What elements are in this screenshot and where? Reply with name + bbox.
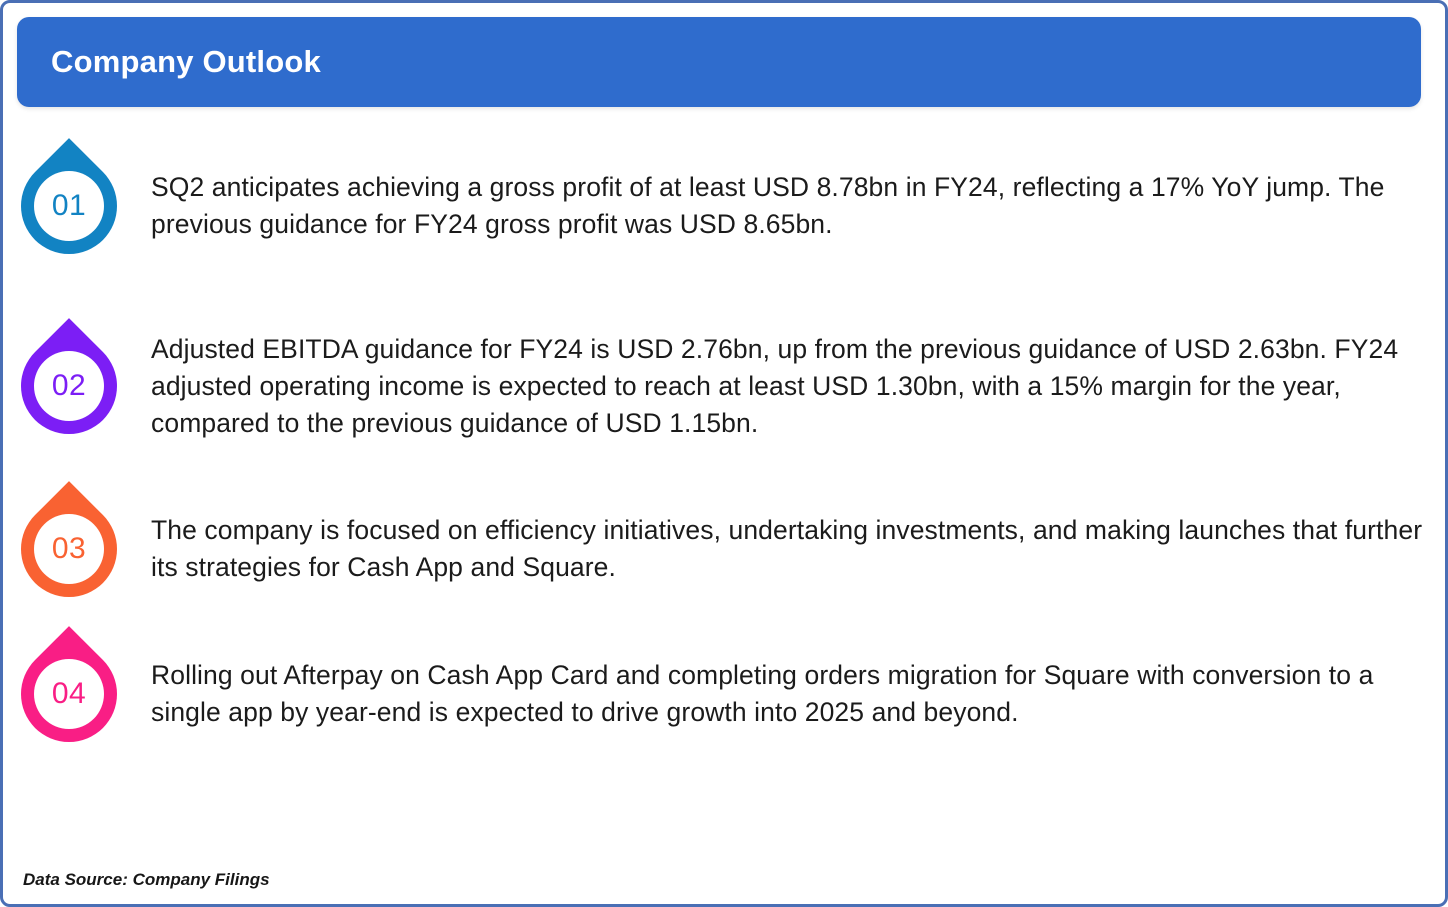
marker-wrap: 02 (3, 330, 151, 442)
marker-wrap: 03 (3, 493, 151, 605)
list-item-text: The company is focused on efficiency ini… (151, 512, 1448, 586)
marker-wrap: 04 (3, 638, 151, 750)
list-item: 01 SQ2 anticipates achieving a gross pro… (3, 121, 1448, 291)
marker-wrap: 01 (3, 150, 151, 262)
list-item-text: Rolling out Afterpay on Cash App Card an… (151, 657, 1448, 731)
pin-number: 03 (34, 514, 104, 584)
list-item: 03 The company is focused on efficiency … (3, 481, 1448, 616)
list-item: 02 Adjusted EBITDA guidance for FY24 is … (3, 291, 1448, 481)
company-outlook-card: Company Outlook 01 SQ2 anticipates achie… (0, 0, 1448, 907)
pin-marker-icon: 03 (13, 493, 125, 605)
list-item-text: SQ2 anticipates achieving a gross profit… (151, 169, 1448, 243)
pin-number: 04 (34, 659, 104, 729)
list-item: 04 Rolling out Afterpay on Cash App Card… (3, 616, 1448, 771)
pin-marker-icon: 04 (13, 638, 125, 750)
pin-number: 01 (34, 171, 104, 241)
list-item-text: Adjusted EBITDA guidance for FY24 is USD… (151, 331, 1448, 442)
pin-marker-icon: 01 (13, 150, 125, 262)
header-bar: Company Outlook (17, 17, 1421, 107)
data-source-note: Data Source: Company Filings (23, 870, 270, 890)
pin-number: 02 (34, 351, 104, 421)
page-title: Company Outlook (51, 44, 321, 80)
pin-marker-icon: 02 (13, 330, 125, 442)
outlook-list: 01 SQ2 anticipates achieving a gross pro… (3, 121, 1448, 771)
